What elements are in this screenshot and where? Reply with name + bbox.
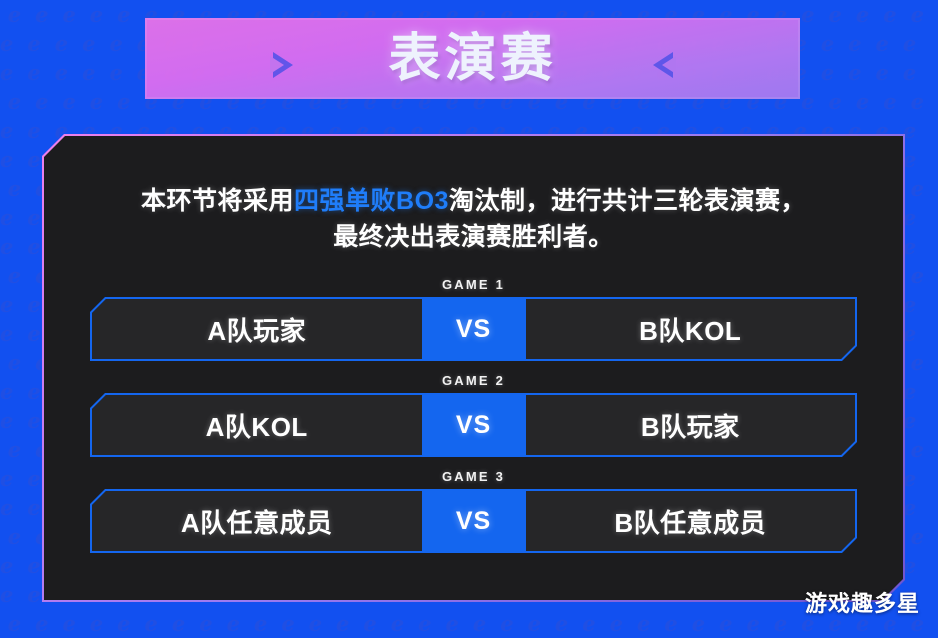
- description-line-1: 本环节将采用四强单败BO3淘汰制，进行共计三轮表演赛，: [96, 184, 851, 220]
- match-block: GAME 1 A队玩家 VS B队KOL: [90, 277, 857, 361]
- page-title: 表演赛: [388, 33, 556, 85]
- vs-badge: VS: [422, 299, 526, 359]
- header-banner-content: 表演赛: [145, 18, 800, 99]
- match-row[interactable]: A队玩家 VS B队KOL: [90, 297, 857, 361]
- match-list: GAME 1 A队玩家 VS B队KOL GAME 2 A队KOL VS B队玩…: [44, 277, 903, 553]
- team-b-cell[interactable]: B队KOL: [526, 299, 856, 359]
- match-row-inner: A队KOL VS B队玩家: [92, 395, 855, 455]
- match-row[interactable]: A队任意成员 VS B队任意成员: [90, 489, 857, 553]
- match-row-inner: A队任意成员 VS B队任意成员: [92, 491, 855, 551]
- game-label: GAME 1: [90, 277, 857, 292]
- description-text: 本环节将采用四强单败BO3淘汰制，进行共计三轮表演赛， 最终决出表演赛胜利者。: [44, 136, 903, 255]
- main-panel-body: 本环节将采用四强单败BO3淘汰制，进行共计三轮表演赛， 最终决出表演赛胜利者。 …: [44, 136, 903, 600]
- watermark: 游戏趣多星: [805, 586, 920, 618]
- vs-badge: VS: [422, 491, 526, 551]
- game-label: GAME 2: [90, 373, 857, 388]
- triangle-right-icon: [273, 52, 293, 78]
- vs-badge: VS: [422, 395, 526, 455]
- game-label: GAME 3: [90, 469, 857, 484]
- team-b-cell[interactable]: B队任意成员: [526, 491, 856, 551]
- match-block: GAME 2 A队KOL VS B队玩家: [90, 373, 857, 457]
- match-row[interactable]: A队KOL VS B队玩家: [90, 393, 857, 457]
- triangle-left-icon: [653, 52, 673, 78]
- header-banner: 表演赛: [145, 18, 800, 99]
- description-highlight: 四强单败BO3: [294, 187, 449, 215]
- match-row-inner: A队玩家 VS B队KOL: [92, 299, 855, 359]
- team-b-cell[interactable]: B队玩家: [526, 395, 856, 455]
- main-panel: 本环节将采用四强单败BO3淘汰制，进行共计三轮表演赛， 最终决出表演赛胜利者。 …: [42, 134, 905, 602]
- team-a-cell[interactable]: A队玩家: [92, 299, 422, 359]
- description-part-2: 淘汰制，进行共计三轮表演赛，: [449, 187, 806, 215]
- team-a-cell[interactable]: A队KOL: [92, 395, 422, 455]
- team-a-cell[interactable]: A队任意成员: [92, 491, 422, 551]
- match-block: GAME 3 A队任意成员 VS B队任意成员: [90, 469, 857, 553]
- description-line-2: 最终决出表演赛胜利者。: [96, 220, 851, 256]
- description-part-1: 本环节将采用: [141, 187, 294, 215]
